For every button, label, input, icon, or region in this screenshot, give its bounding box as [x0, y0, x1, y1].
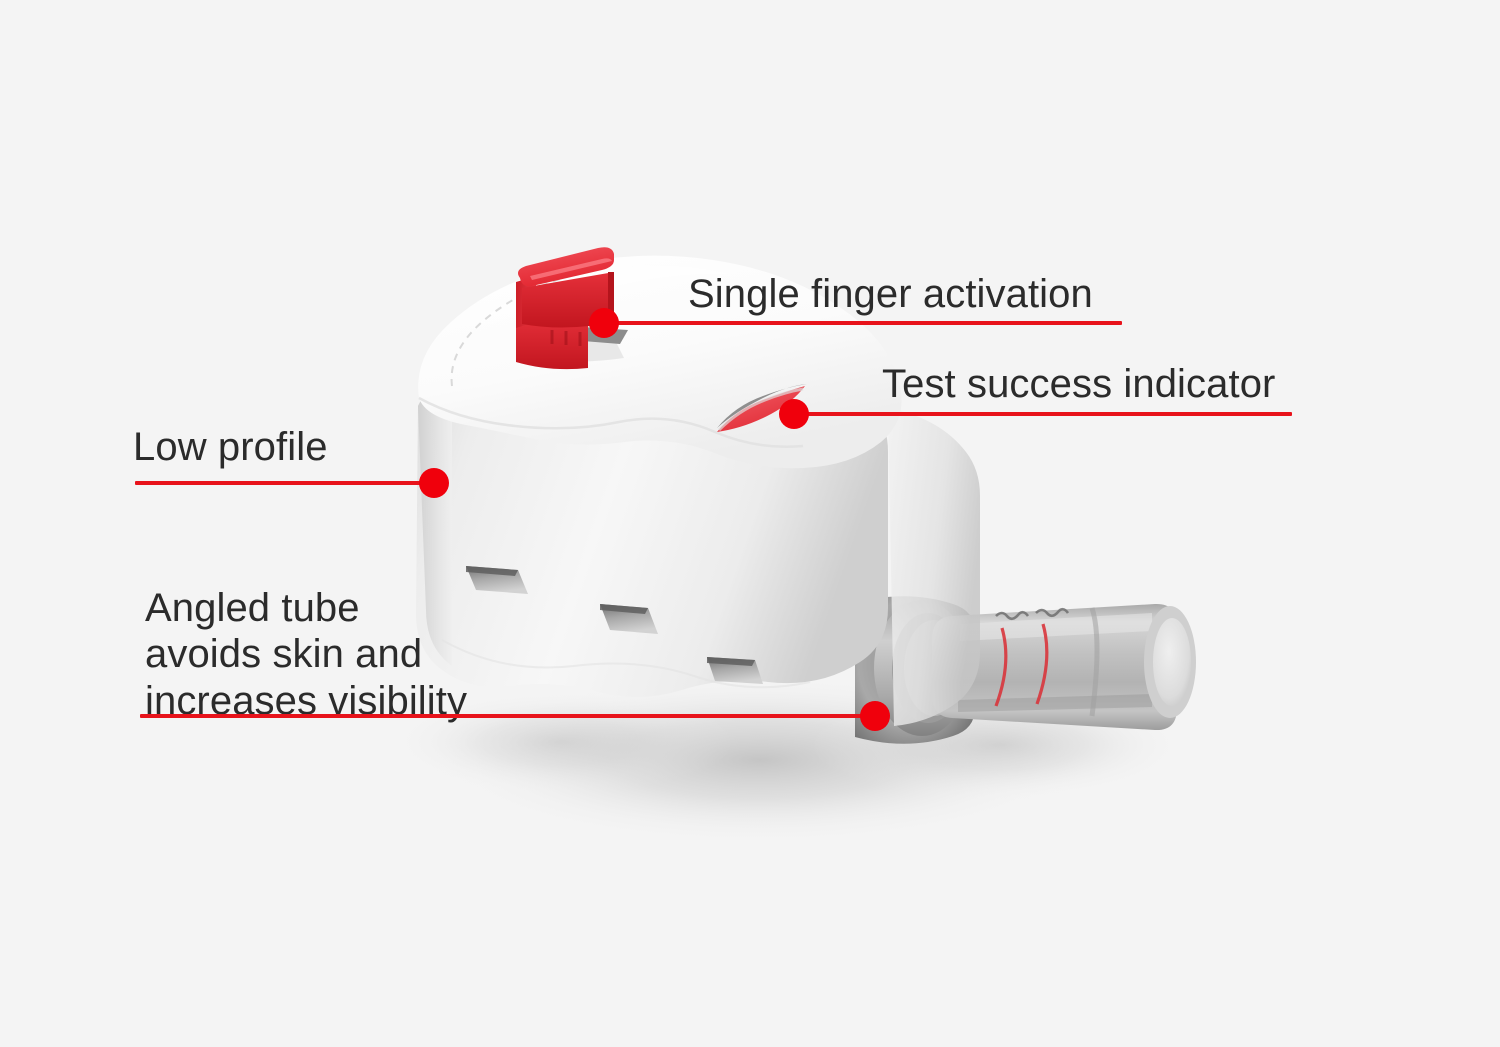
callout-label-single-finger-activation: Single finger activation: [688, 271, 1093, 317]
callout-label-angled-tube: Angled tube avoids skin and increases vi…: [145, 585, 467, 724]
illustration-canvas: Single finger activation Test success in…: [0, 0, 1500, 1047]
callout-dot-low-profile[interactable]: [419, 468, 449, 498]
callout-dot-single-finger-activation[interactable]: [589, 308, 619, 338]
vent-slot: [707, 657, 763, 684]
callout-rule-angled-tube: [140, 714, 880, 718]
callout-label-test-success-indicator: Test success indicator: [882, 361, 1275, 407]
callout-label-low-profile: Low profile: [133, 424, 328, 470]
activation-button[interactable]: [516, 247, 628, 369]
callout-rule-low-profile: [135, 481, 435, 485]
callout-dot-angled-tube[interactable]: [860, 701, 890, 731]
device-body: [416, 256, 980, 726]
callout-rule-single-finger-activation: [650, 321, 1122, 325]
product-illustration: [0, 0, 1500, 1047]
callout-dot-test-success-indicator[interactable]: [779, 399, 809, 429]
callout-rule-test-success-indicator: [840, 412, 1292, 416]
